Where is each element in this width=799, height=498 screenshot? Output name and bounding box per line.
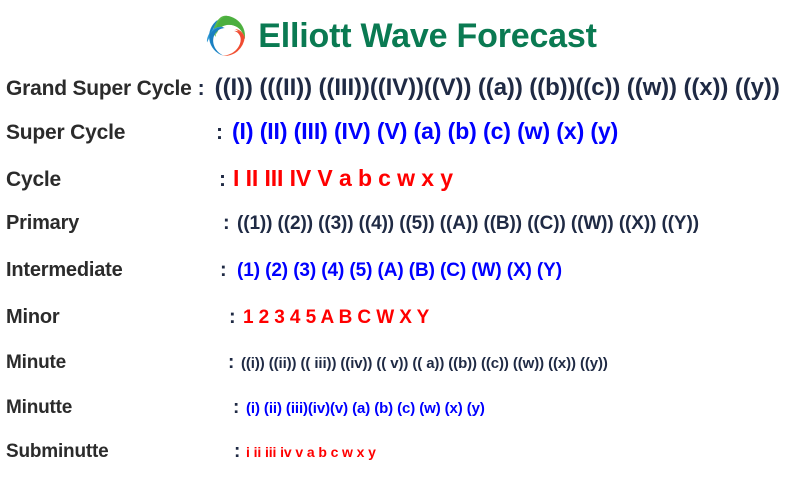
page-header: Elliott Wave Forecast xyxy=(0,0,799,68)
degree-row-minute: Minute : ((i)) ((ii)) (( iii)) ((iv)) ((… xyxy=(0,352,799,397)
degree-values: I II III IV V a b c w x y xyxy=(233,165,799,192)
degree-values: 1 2 3 4 5 A B C W X Y xyxy=(243,307,799,329)
row-separator: : xyxy=(233,397,246,419)
degree-label: Subminutte xyxy=(0,441,234,463)
degree-label: Primary xyxy=(0,212,223,235)
wave-degree-reference-page: Elliott Wave Forecast Grand Super Cycle … xyxy=(0,0,799,498)
degree-values: ((i)) ((ii)) (( iii)) ((iv)) (( v)) (( a… xyxy=(241,355,799,372)
degree-values: (I) (II) (III) (IV) (V) (a) (b) (c) (w) … xyxy=(232,118,799,145)
degree-row-grand-super-cycle: Grand Super Cycle : ((I)) (((II)) ((III)… xyxy=(0,74,799,118)
degree-label: Minor xyxy=(0,306,229,329)
row-separator: : xyxy=(216,121,232,145)
degree-values: (i) (ii) (iii)(iv)(v) (a) (b) (c) (w) (x… xyxy=(246,400,799,417)
degree-row-intermediate: Intermediate : (1) (2) (3) (4) (5) (A) (… xyxy=(0,259,799,306)
degree-row-cycle: Cycle : I II III IV V a b c w x y xyxy=(0,165,799,212)
degree-values: (1) (2) (3) (4) (5) (A) (B) (C) (W) (X) … xyxy=(237,260,799,282)
degree-values: ((1)) ((2)) ((3)) ((4)) ((5)) ((A)) ((B)… xyxy=(237,213,799,235)
degree-row-primary: Primary : ((1)) ((2)) ((3)) ((4)) ((5)) … xyxy=(0,212,799,259)
degree-label: Minutte xyxy=(0,397,233,419)
degree-values: ((I)) (((II)) ((III))((IV))((V)) ((a)) (… xyxy=(215,74,799,102)
degree-label: Cycle xyxy=(0,168,219,192)
row-separator: : xyxy=(228,352,241,374)
row-separator: : xyxy=(220,259,237,282)
degree-label: Intermediate xyxy=(0,259,220,282)
brand-title: Elliott Wave Forecast xyxy=(258,19,596,53)
row-separator: : xyxy=(219,168,233,192)
degree-label: Minute xyxy=(0,352,228,374)
degree-label: Super Cycle xyxy=(0,121,216,145)
row-separator: : xyxy=(223,212,237,235)
degree-row-minor: Minor : 1 2 3 4 5 A B C W X Y xyxy=(0,306,799,352)
wave-degree-list: Grand Super Cycle : ((I)) (((II)) ((III)… xyxy=(0,68,799,481)
degree-row-super-cycle: Super Cycle : (I) (II) (III) (IV) (V) (a… xyxy=(0,118,799,165)
row-separator: : xyxy=(192,77,215,101)
degree-row-minutte: Minutte : (i) (ii) (iii)(iv)(v) (a) (b) … xyxy=(0,397,799,441)
degree-row-subminutte: Subminutte : i ii iii iv v a b c w x y xyxy=(0,441,799,481)
swirl-logo-icon xyxy=(202,13,248,59)
degree-values: i ii iii iv v a b c w x y xyxy=(246,444,799,460)
row-separator: : xyxy=(229,306,243,329)
degree-label: Grand Super Cycle xyxy=(0,77,192,101)
row-separator: : xyxy=(234,441,246,463)
